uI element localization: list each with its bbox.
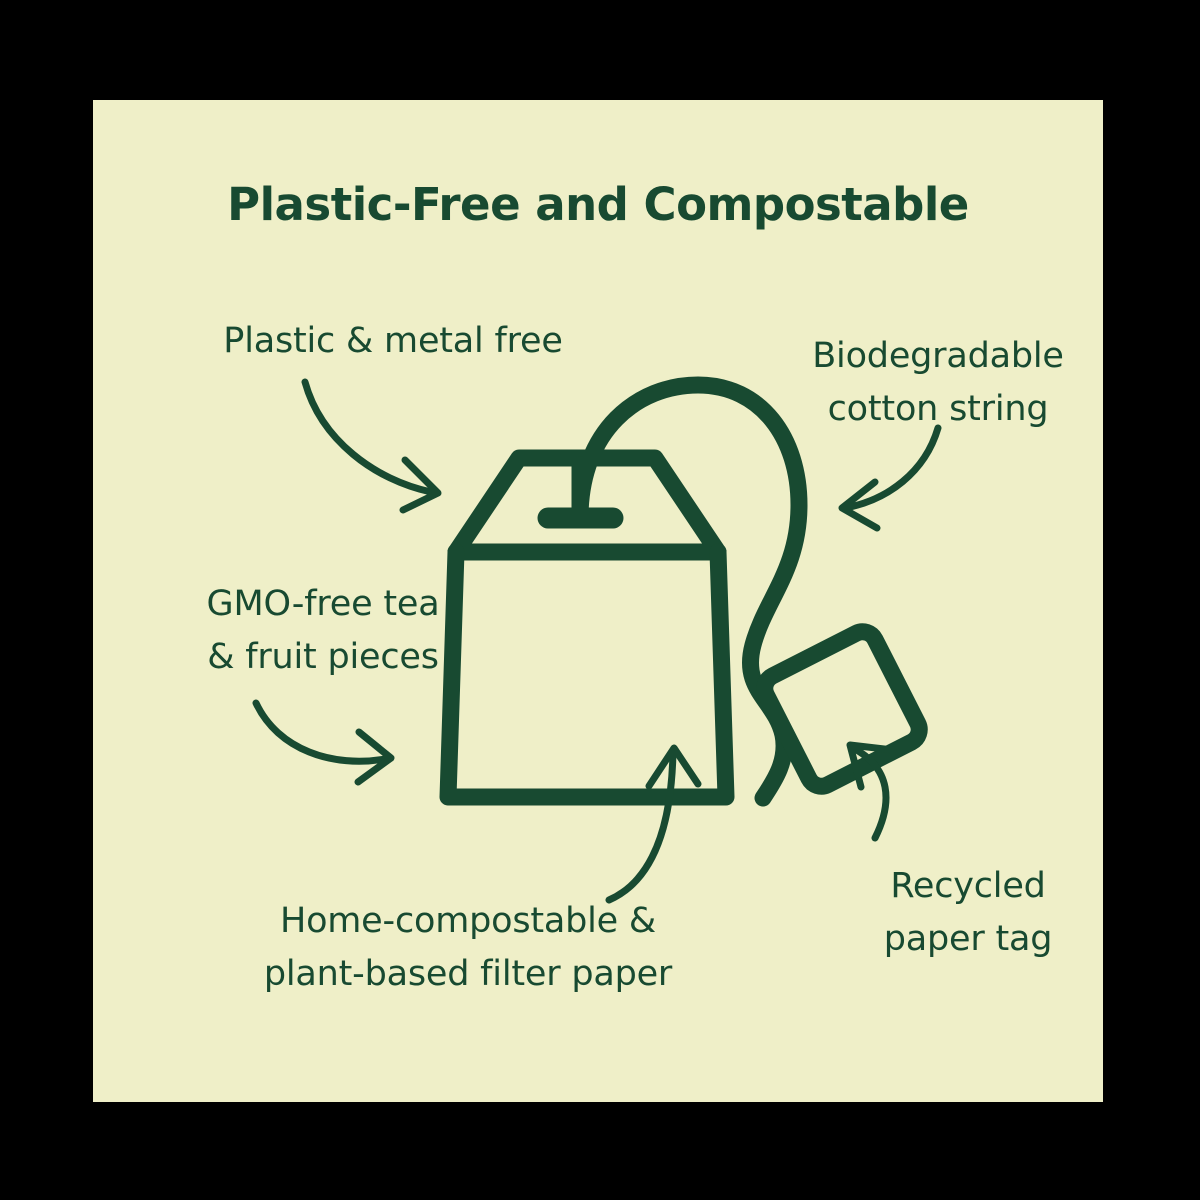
curved-arrow-down-right (305, 382, 438, 510)
callout-label-gmo-free: GMO-free tea & fruit pieces (153, 578, 493, 683)
curved-arrow-down-left (842, 428, 938, 528)
callout-label-home-compostable: Home-compostable & plant-based filter pa… (218, 895, 718, 1000)
callout-label-recycled-tag: Recycled paper tag (823, 860, 1103, 965)
curved-arrow-right (256, 703, 391, 782)
curved-arrow-up (609, 748, 698, 900)
callout-label-plastic-metal-free: Plastic & metal free (193, 315, 593, 368)
infographic-panel: Plastic-Free and Compostable (93, 100, 1103, 1102)
infographic-frame: Plastic-Free and Compostable (0, 0, 1200, 1200)
callout-label-biodegradable-string: Biodegradable cotton string (778, 330, 1098, 435)
curved-arrow-up-left (850, 745, 893, 838)
